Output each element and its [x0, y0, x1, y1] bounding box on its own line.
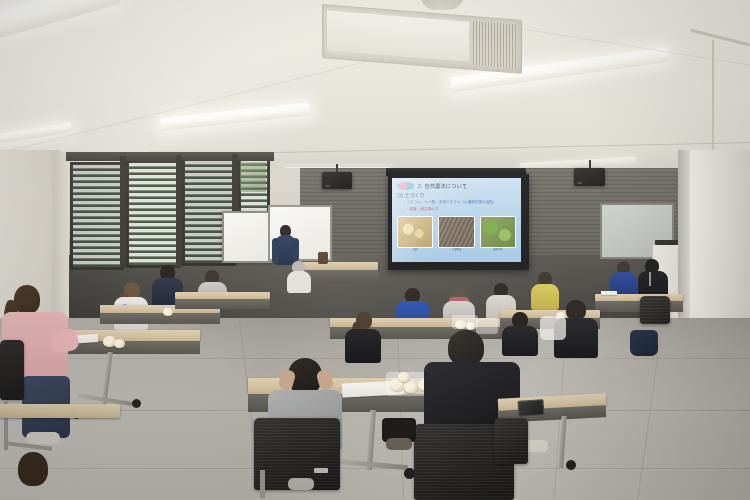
garlic-bulbs [404, 381, 418, 393]
window-mullion-2 [176, 155, 182, 267]
window-greenery [240, 162, 266, 192]
attendee-front-head [18, 452, 48, 486]
lanyard-icon [649, 272, 651, 286]
louvered-window-2 [126, 160, 180, 268]
left-table-2-panel [175, 299, 270, 309]
slide-photo-1-caption: 堆肥 [397, 247, 433, 251]
lectern-table [300, 262, 378, 270]
attendee-pink-shoe [26, 432, 60, 444]
slide-photo-3: 緑肥作物 [480, 216, 516, 246]
louvered-window-1 [70, 162, 124, 270]
left-table-1-panel [100, 313, 220, 324]
lectern-table-panel [300, 270, 378, 284]
slide-photo-2: 土壌断面 [438, 216, 474, 246]
ceiling-speaker-right [574, 168, 605, 186]
garlic-bulbs [163, 308, 173, 316]
projection-screen: 2. 自然農法について (1) 土づくり ・ミネラル・ケイ酸・天然ミネラル（土壌… [388, 174, 529, 270]
table-caster [566, 460, 576, 470]
ceiling-speaker-left [322, 172, 352, 189]
window-head-rail [66, 152, 274, 161]
front-right-chair [494, 418, 528, 464]
attendee-shoe [386, 438, 412, 450]
slide-bullet-1: ・ミネラル・ケイ酸・天然ミネラル（土壌微生物の活性） [403, 200, 496, 205]
front-left-table-2 [0, 404, 120, 418]
window-mullion-1 [120, 156, 126, 268]
attendee-yellow-body [531, 284, 559, 310]
attendee-black-2-body [502, 326, 538, 356]
slide-title: 2. 自然農法について [418, 183, 518, 190]
chair-label [314, 468, 328, 473]
white-bag [540, 316, 566, 340]
attendee-pink-chair [0, 340, 24, 400]
tablet-device [517, 399, 544, 417]
attendee-ponytail-body [345, 329, 381, 363]
slide-photo-1: 堆肥 [397, 216, 433, 246]
attendee-midright-head [566, 300, 586, 320]
slide-content: 2. 自然農法について (1) 土づくり ・ミネラル・ケイ酸・天然ミネラル（土壌… [392, 178, 521, 262]
attendee-gray-shoe [288, 478, 314, 490]
garlic-bag [452, 315, 478, 329]
slide-decoration-icon [397, 182, 414, 190]
slide-heading: (1) 土づくり [397, 192, 425, 199]
chair-leg [260, 470, 265, 498]
ceiling-bulkhead-rail [712, 40, 714, 150]
garlic-bulbs [398, 372, 410, 382]
slide-photo-2-caption: 土壌断面 [438, 247, 474, 251]
back-right-chair [640, 296, 670, 324]
presenter-arm-left [272, 238, 279, 264]
slide-photo-3-caption: 緑肥作物 [480, 247, 516, 251]
classroom-photo: 2. 自然農法について (1) 土づくり ・ミネラル・ケイ酸・天然ミネラル（土壌… [0, 0, 750, 500]
left-table-2 [175, 292, 270, 299]
back-right-handout [601, 291, 617, 295]
attendee-silver-body [287, 271, 311, 293]
attendee-black-1-head [448, 330, 484, 366]
table-caster [132, 399, 141, 408]
presenter-arm-right [292, 238, 299, 262]
backpack [630, 330, 658, 356]
white-bag [476, 318, 498, 334]
slide-bullet-2: ・発酵・微生物の力 [406, 207, 438, 212]
attendee-pink-head [14, 285, 40, 314]
lectern-object [318, 252, 328, 264]
garlic-bulbs [114, 339, 125, 348]
slide-photo-row: 堆肥 土壌断面 緑肥作物 [397, 216, 516, 246]
